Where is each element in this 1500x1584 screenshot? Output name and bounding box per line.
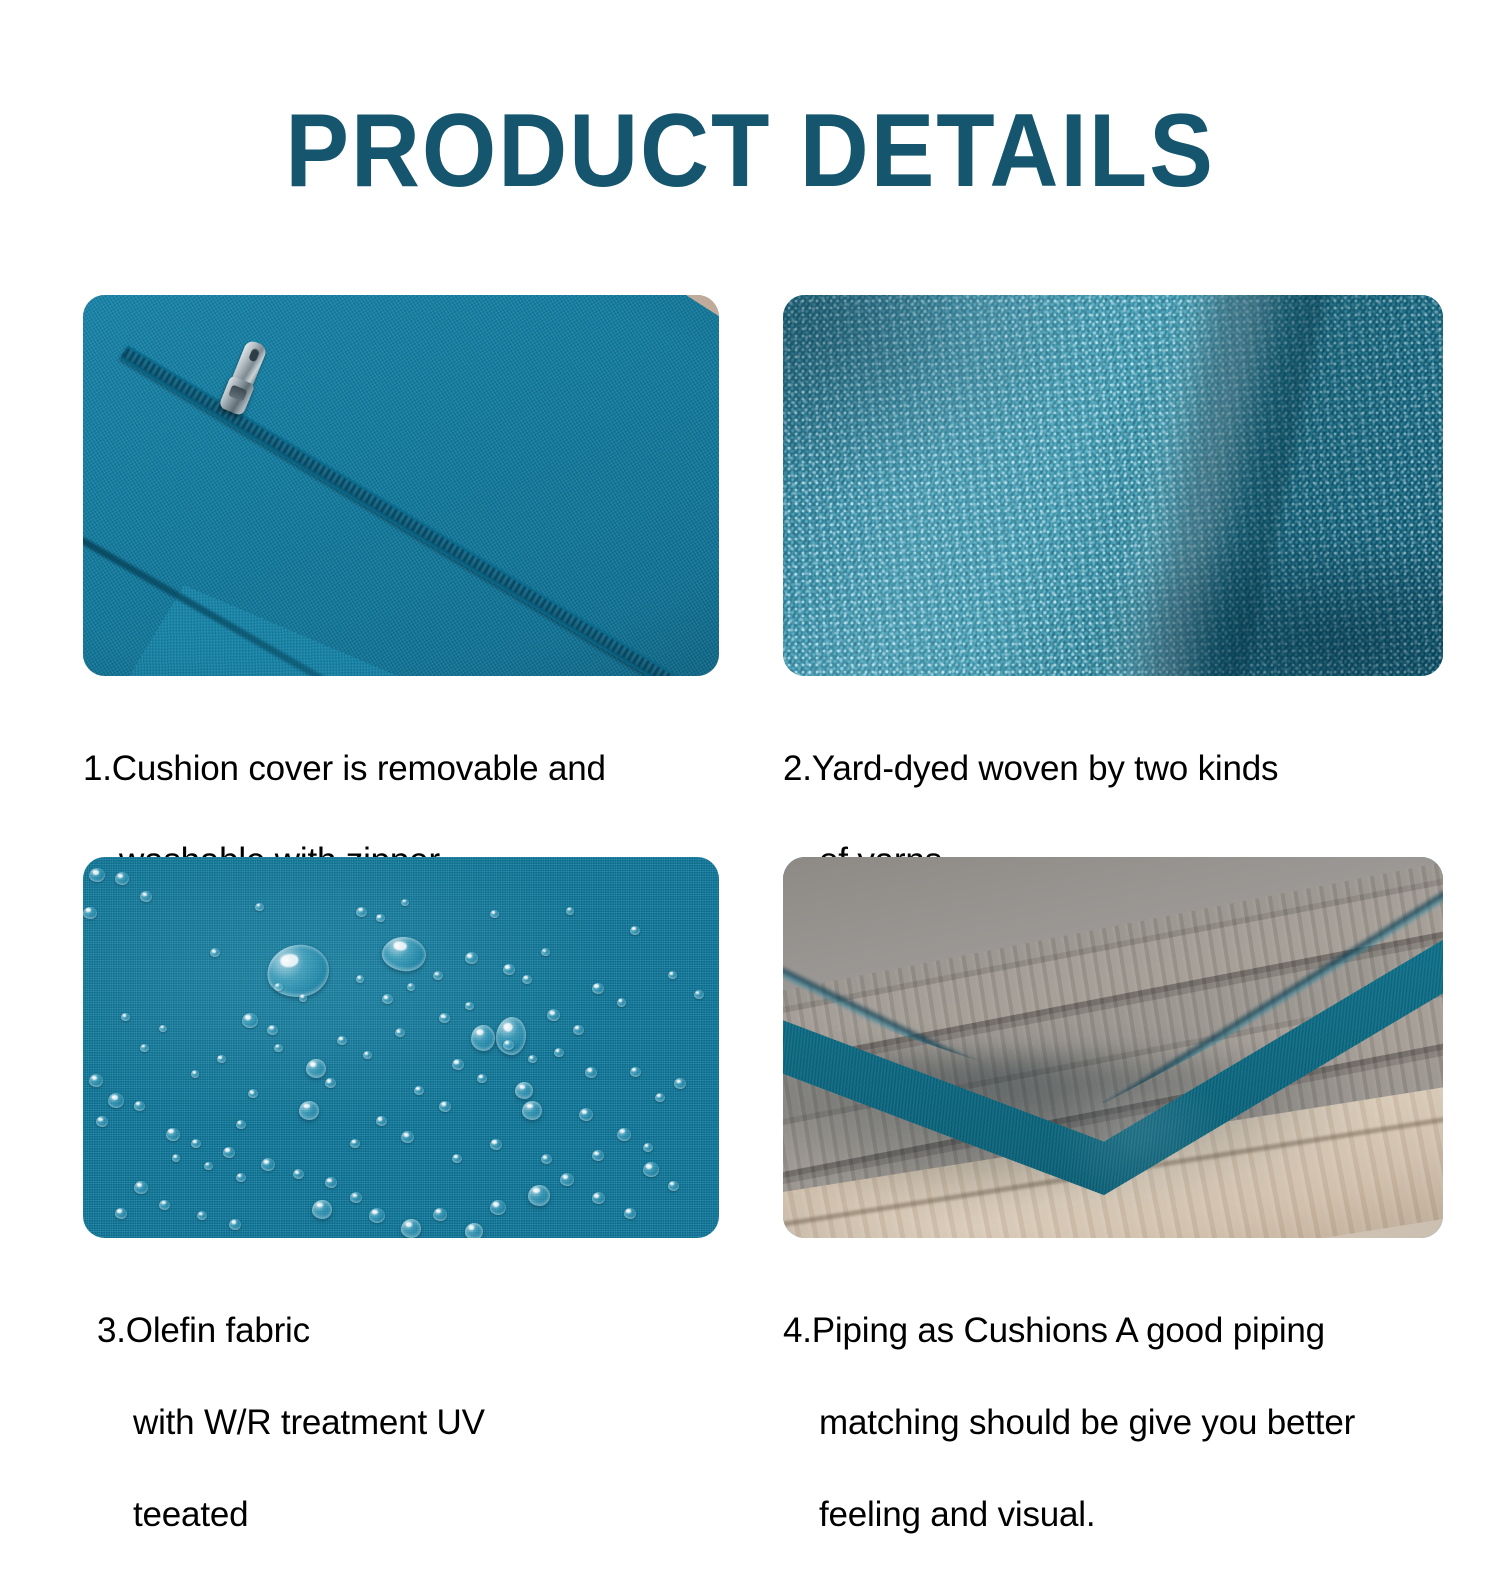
- caption-line: 1.Cushion cover is removable and: [83, 746, 719, 792]
- water-droplet: [592, 1150, 604, 1161]
- water-droplet: [376, 1116, 387, 1126]
- water-droplet: [668, 1181, 679, 1191]
- water-droplet: [465, 952, 478, 964]
- water-droplet: [140, 891, 152, 902]
- product-details-page: PRODUCT DETAILS: [0, 0, 1500, 1500]
- water-droplet: [363, 1051, 372, 1059]
- water-droplet: [166, 1128, 180, 1141]
- water-droplet: [115, 872, 129, 885]
- photo-vignette: [783, 857, 1443, 1238]
- water-droplet: [585, 1067, 597, 1078]
- water-droplet: [579, 1108, 593, 1121]
- water-droplet: [515, 1082, 533, 1099]
- water-droplet: [414, 1086, 424, 1095]
- water-droplet: [668, 971, 677, 979]
- water-droplet: [490, 1139, 502, 1150]
- water-droplet: [439, 1013, 450, 1023]
- water-droplet: [115, 1208, 127, 1219]
- water-droplet: [541, 1154, 552, 1164]
- water-droplet: [592, 1192, 605, 1204]
- water-droplet: [242, 1013, 258, 1028]
- water-droplet: [522, 1101, 542, 1120]
- water-droplet: [573, 1025, 584, 1035]
- water-droplet: [159, 1025, 167, 1032]
- water-droplet: [566, 907, 574, 915]
- water-droplet: [465, 1223, 483, 1238]
- water-droplet: [191, 1070, 199, 1078]
- detail-panels-grid: 1.Cushion cover is removable and washabl…: [83, 295, 1443, 1415]
- water-droplet: [217, 1055, 226, 1063]
- water-droplet: [643, 1162, 659, 1177]
- photo-vignette: [83, 295, 719, 676]
- water-droplet: [630, 926, 640, 935]
- water-droplet: [376, 914, 385, 922]
- water-droplet: [356, 907, 367, 917]
- detail-panel-3: 3.Olefin fabric with W/R treatment UV te…: [83, 857, 719, 1584]
- caption-line: 4.Piping as Cushions A good piping: [783, 1308, 1443, 1354]
- water-droplet: [528, 1185, 550, 1206]
- water-droplet: [407, 983, 415, 991]
- water-droplet: [401, 1219, 421, 1238]
- water-droplet: [439, 1101, 451, 1112]
- cushion-zipper-closeup-image: [83, 295, 719, 676]
- water-droplet: [477, 1074, 487, 1083]
- fabric-shadow-bottom: [1100, 535, 1443, 676]
- page-title: PRODUCT DETAILS: [60, 96, 1440, 206]
- detail-panel-2: 2.Yard-dyed woven by two kinds of yarns: [783, 295, 1443, 930]
- water-droplet: [433, 971, 443, 980]
- water-droplet: [140, 1044, 149, 1052]
- water-droplet: [350, 1139, 360, 1148]
- detail-panel-1: 1.Cushion cover is removable and washabl…: [83, 295, 719, 930]
- water-droplet: [89, 1074, 103, 1087]
- caption-line: 2.Yard-dyed woven by two kinds: [783, 746, 1443, 792]
- water-droplet: [337, 1036, 347, 1045]
- water-droplet: [108, 1093, 124, 1108]
- water-droplet: [293, 1169, 304, 1179]
- water-droplet: [134, 1181, 148, 1194]
- water-droplet: [299, 1101, 319, 1120]
- water-droplet: [356, 975, 364, 983]
- water-droplet: [255, 903, 264, 911]
- caption-line: matching should be give you better: [783, 1400, 1443, 1446]
- woven-fabric-texture-image: [783, 295, 1443, 676]
- water-droplet: [223, 1147, 235, 1158]
- water-droplet: [236, 1173, 246, 1182]
- water-droplet: [172, 1154, 180, 1162]
- water-droplet: [554, 1048, 564, 1057]
- caption-line: 3.Olefin fabric: [97, 1308, 719, 1354]
- water-droplet: [306, 1059, 326, 1078]
- fabric-sheen: [83, 857, 719, 1238]
- water-droplet: [191, 1139, 201, 1148]
- water-droplet: [674, 1078, 686, 1089]
- water-droplet: [465, 1002, 474, 1010]
- water-droplet: [452, 1059, 464, 1070]
- water-repellent-droplets-image: [83, 857, 719, 1238]
- water-droplet: [452, 1154, 462, 1163]
- water-droplet: [204, 1162, 213, 1170]
- water-droplet: [210, 948, 220, 957]
- caption-line: teeated: [97, 1492, 719, 1538]
- panel-3-caption: 3.Olefin fabric with W/R treatment UV te…: [83, 1262, 719, 1584]
- water-droplet: [503, 964, 515, 975]
- water-droplet: [159, 1200, 170, 1210]
- water-droplet: [121, 1013, 130, 1021]
- water-droplet: [229, 1219, 241, 1230]
- water-droplet: [694, 990, 704, 999]
- water-droplet: [490, 910, 499, 918]
- water-droplet: [624, 1208, 636, 1219]
- water-droplet: [528, 1055, 537, 1063]
- water-droplet: [503, 1040, 514, 1050]
- cushion-corner-piping-image: [783, 857, 1443, 1238]
- water-droplet: [433, 1208, 447, 1221]
- water-droplet: [267, 1025, 278, 1035]
- water-droplet: [312, 1200, 332, 1219]
- water-droplet: [261, 1158, 275, 1171]
- water-droplet: [617, 1128, 631, 1141]
- detail-panel-4: 4.Piping as Cushions A good piping match…: [783, 857, 1443, 1584]
- water-droplet: [236, 1120, 246, 1129]
- water-droplet: [490, 1200, 506, 1215]
- water-droplet: [350, 1192, 362, 1203]
- water-droplet: [197, 1211, 207, 1220]
- water-droplet: [401, 899, 409, 906]
- water-droplet: [96, 1116, 108, 1127]
- water-droplet: [592, 983, 604, 994]
- water-droplet: [89, 868, 105, 882]
- water-droplet: [325, 1078, 336, 1088]
- water-droplet: [382, 994, 393, 1004]
- water-droplet: [655, 1093, 665, 1102]
- caption-line: feeling and visual.: [783, 1492, 1443, 1538]
- water-droplet: [617, 998, 626, 1007]
- water-droplet: [547, 1009, 560, 1021]
- water-droplet: [401, 1131, 414, 1143]
- panel-4-caption: 4.Piping as Cushions A good piping match…: [783, 1262, 1443, 1584]
- water-droplet: [83, 907, 97, 919]
- water-droplet: [325, 1177, 337, 1188]
- caption-line: with W/R treatment UV: [97, 1400, 719, 1446]
- water-droplet: [630, 1067, 641, 1077]
- water-droplet: [274, 1044, 283, 1052]
- water-droplet: [522, 975, 532, 984]
- water-droplet: [395, 1028, 405, 1037]
- water-droplet: [369, 1208, 385, 1223]
- water-droplet: [274, 983, 283, 991]
- water-droplet: [541, 948, 550, 956]
- water-droplet: [134, 1101, 145, 1111]
- water-droplet: [560, 1173, 574, 1186]
- water-droplet: [299, 994, 307, 1002]
- water-droplet: [248, 1089, 258, 1098]
- water-droplet: [643, 1143, 653, 1152]
